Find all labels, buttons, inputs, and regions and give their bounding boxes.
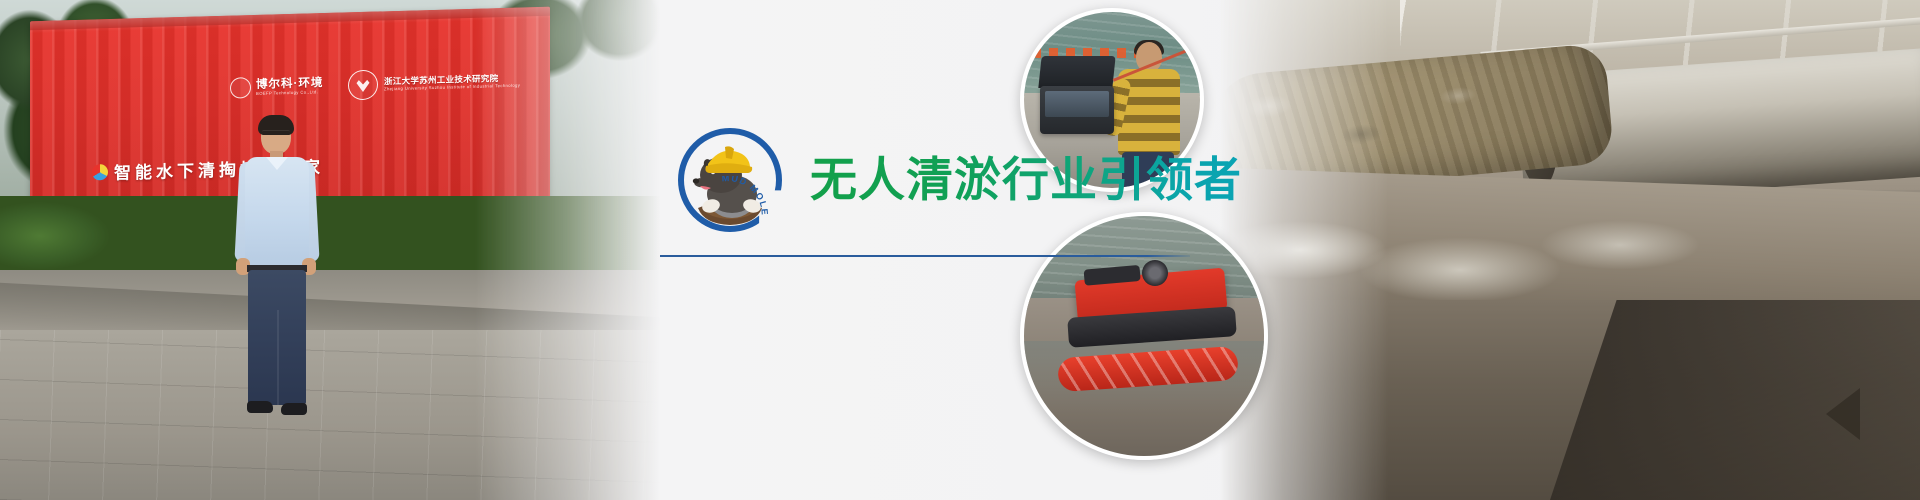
person-trousers [248, 270, 306, 405]
arrow-shape [1826, 388, 1860, 440]
headline-divider [660, 255, 1190, 257]
logo-ring-text: MUD MOLE [716, 176, 786, 230]
hero-banner: 博尔科·环境 BOEFP Technology Co.,Ltd. 浙江大学苏州工… [0, 0, 1920, 500]
person-shoe-right [281, 403, 307, 415]
center-brand-block: MUD MOLE 无人清淤行业引领者 [660, 0, 1220, 500]
company-seal-icon [230, 77, 251, 99]
container-logo-primary: 博尔科·环境 BOEFP Technology Co.,Ltd. [230, 75, 323, 99]
person-shoe-left [247, 401, 273, 413]
mud-mole-logo: MUD MOLE [678, 128, 782, 232]
university-seal-icon [348, 70, 378, 101]
container-logo-secondary: 浙江大学苏州工业技术研究院 Zhejiang University Suzhou… [348, 66, 520, 101]
right-photo-sludge-pipe [1220, 0, 1920, 500]
person-shirt [245, 157, 309, 269]
person-figure [225, 118, 335, 448]
glasses-icon [262, 130, 290, 137]
container-logo-primary-en: BOEFP Technology Co.,Ltd. [256, 89, 323, 96]
left-photo-container-and-person: 博尔科·环境 BOEFP Technology Co.,Ltd. 浙江大学苏州工… [0, 0, 660, 500]
slogan-badge-icon [92, 164, 108, 180]
svg-text:MUD MOLE: MUD MOLE [722, 176, 770, 216]
logo-and-headline-row: MUD MOLE 无人清淤行业引领者 [678, 128, 1242, 232]
page-headline: 无人清淤行业引领者 [810, 155, 1242, 204]
